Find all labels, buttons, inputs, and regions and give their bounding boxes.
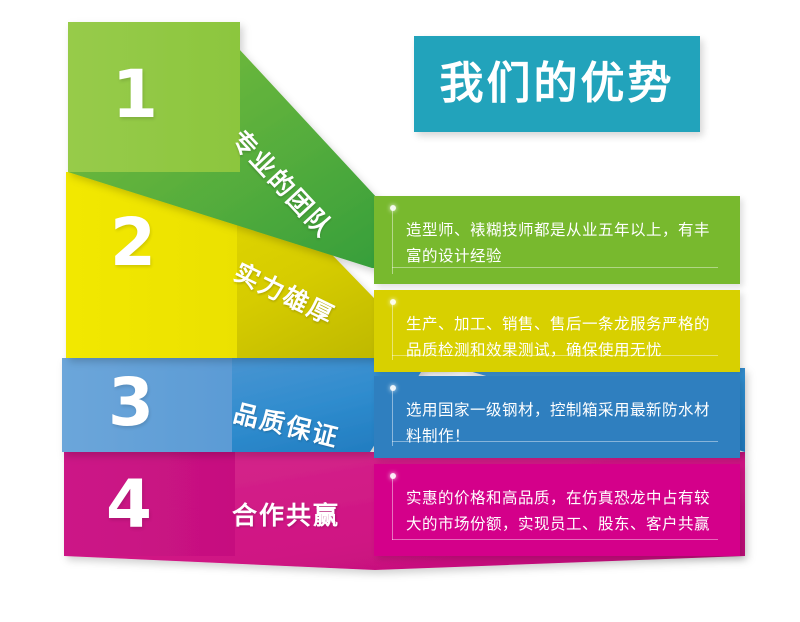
panel-text-4: 实惠的价格和高品质，在仿真恐龙中占有较大的市场份额，实现员工、股东、客户共赢: [406, 486, 714, 537]
panel-text-1: 造型师、裱糊技师都是从业五年以上，有丰富的设计经验: [406, 218, 714, 269]
infographic-canvas: 我们的优势 1 2 3 4 专业的团队 实力雄厚 品质保证 合作共赢 造型师、裱…: [0, 0, 800, 622]
panel-pin-icon-2: [392, 302, 393, 360]
title-banner: 我们的优势: [414, 36, 700, 132]
panel-rule-3: [392, 441, 718, 442]
page-title: 我们的优势: [440, 62, 675, 106]
step-number-4: 4: [106, 472, 152, 538]
content-panel-4: 实惠的价格和高品质，在仿真恐龙中占有较大的市场份额，实现员工、股东、客户共赢: [374, 464, 740, 556]
panel-pin-icon-1: [392, 208, 393, 274]
content-panel-3: 选用国家一级钢材，控制箱采用最新防水材料制作！: [374, 376, 740, 458]
step-number-2: 2: [110, 210, 156, 276]
panel-rule-2: [392, 355, 718, 356]
content-panel-1: 造型师、裱糊技师都是从业五年以上，有丰富的设计经验: [374, 196, 740, 284]
step-number-1: 1: [112, 62, 158, 128]
panel-rule-1: [392, 267, 718, 268]
step-number-3: 3: [108, 370, 154, 436]
panel-rule-4: [392, 539, 718, 540]
panel-pin-icon-4: [392, 476, 393, 540]
panel-pin-icon-3: [392, 388, 393, 446]
ribbon-label-4: 合作共赢: [232, 503, 340, 528]
content-panel-2: 生产、加工、销售、售后一条龙服务严格的品质检测和效果测试，确保使用无忧: [374, 290, 740, 372]
